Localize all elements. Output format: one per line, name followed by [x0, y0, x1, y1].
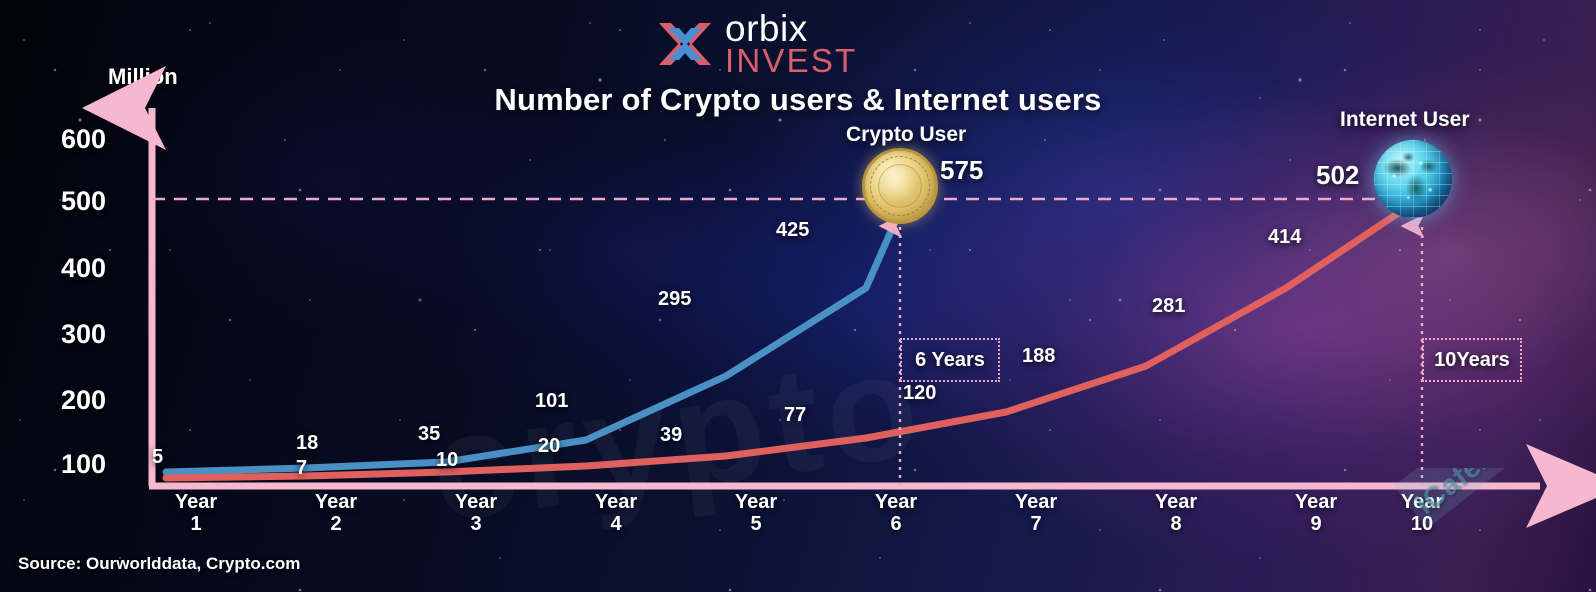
- y-tick-400: 400: [20, 253, 106, 284]
- data-label-crypto-y1: 5: [152, 446, 163, 469]
- internet-user-value: 502: [1316, 160, 1359, 191]
- y-tick-600: 600: [20, 124, 106, 155]
- x-tick-line1: Year: [1155, 491, 1197, 513]
- orbix-x-mark-icon: [655, 15, 715, 73]
- y-axis-title: Million: [108, 64, 178, 90]
- annotation-box-6-years: 6 Years: [900, 338, 1000, 382]
- x-tick-line1: Year: [735, 491, 777, 513]
- coin-inner: [878, 164, 922, 208]
- data-label-crypto-y4: 101: [535, 390, 568, 413]
- x-tick-line2: 10: [1411, 513, 1433, 535]
- x-tick-year-4: Year 4: [571, 492, 661, 535]
- annotation-box-10-years: 10Years: [1422, 338, 1522, 382]
- x-tick-year-8: Year 8: [1131, 492, 1221, 535]
- gold-coin-icon: [862, 148, 938, 224]
- x-tick-line2: 6: [890, 513, 901, 535]
- data-label-internet-y7: 188: [1022, 345, 1055, 368]
- data-label-crypto-y5: 295: [658, 288, 691, 311]
- x-tick-line1: Year: [1295, 491, 1337, 513]
- source-caption: Source: Ourworlddata, Crypto.com: [18, 554, 300, 574]
- data-label-crypto-y2: 18: [296, 432, 318, 455]
- x-tick-year-3: Year 3: [431, 492, 521, 535]
- x-tick-line1: Year: [455, 491, 497, 513]
- data-label-internet-y4: 39: [660, 424, 682, 447]
- data-label-internet-y5: 77: [784, 404, 806, 427]
- brand-name: orbix: [725, 12, 857, 46]
- x-tick-line2: 3: [470, 513, 481, 535]
- y-tick-500: 500: [20, 186, 106, 217]
- x-tick-line2: 5: [750, 513, 761, 535]
- x-tick-year-10: Year 10: [1377, 492, 1467, 535]
- globe-nodes: [1374, 140, 1452, 218]
- x-tick-line1: Year: [1015, 491, 1057, 513]
- x-tick-line2: 8: [1170, 513, 1181, 535]
- infographic-canvas: crypto orbix INVEST Number of Crypto use…: [0, 0, 1596, 592]
- data-label-internet-y1: 7: [296, 457, 307, 480]
- data-label-internet-y2: 10: [436, 449, 458, 472]
- x-tick-line1: Year: [315, 491, 357, 513]
- y-tick-300: 300: [20, 319, 106, 350]
- data-label-crypto-y6: 425: [776, 219, 809, 242]
- y-tick-200: 200: [20, 385, 106, 416]
- x-tick-line2: 1: [190, 513, 201, 535]
- data-label-internet-y9: 414: [1268, 226, 1301, 249]
- x-tick-line1: Year: [595, 491, 637, 513]
- x-tick-line2: 7: [1030, 513, 1041, 535]
- x-tick-year-9: Year 9: [1271, 492, 1361, 535]
- brand-tagline: INVEST: [725, 46, 857, 76]
- x-tick-line1: Year: [1401, 491, 1443, 513]
- y-tick-100: 100: [20, 449, 106, 480]
- x-tick-year-2: Year 2: [291, 492, 381, 535]
- data-label-crypto-y3: 35: [418, 423, 440, 446]
- brand-wordmark: orbix INVEST: [725, 12, 857, 76]
- x-tick-line1: Year: [175, 491, 217, 513]
- x-tick-line2: 2: [330, 513, 341, 535]
- crypto-user-value: 575: [940, 155, 983, 186]
- x-tick-year-5: Year 5: [711, 492, 801, 535]
- data-label-internet-y6: 120: [903, 382, 936, 405]
- x-tick-year-6: Year 6: [851, 492, 941, 535]
- x-tick-line2: 9: [1310, 513, 1321, 535]
- data-label-internet-y3: 20: [538, 435, 560, 458]
- x-tick-year-7: Year 7: [991, 492, 1081, 535]
- x-tick-line2: 4: [610, 513, 621, 535]
- internet-user-label: Internet User: [1340, 108, 1470, 132]
- x-tick-year-1: Year 1: [151, 492, 241, 535]
- data-label-internet-y8: 281: [1152, 295, 1185, 318]
- x-tick-line1: Year: [875, 491, 917, 513]
- brand-logo: orbix INVEST: [655, 12, 857, 76]
- crypto-user-label: Crypto User: [846, 123, 966, 147]
- globe-network-icon: [1374, 140, 1452, 218]
